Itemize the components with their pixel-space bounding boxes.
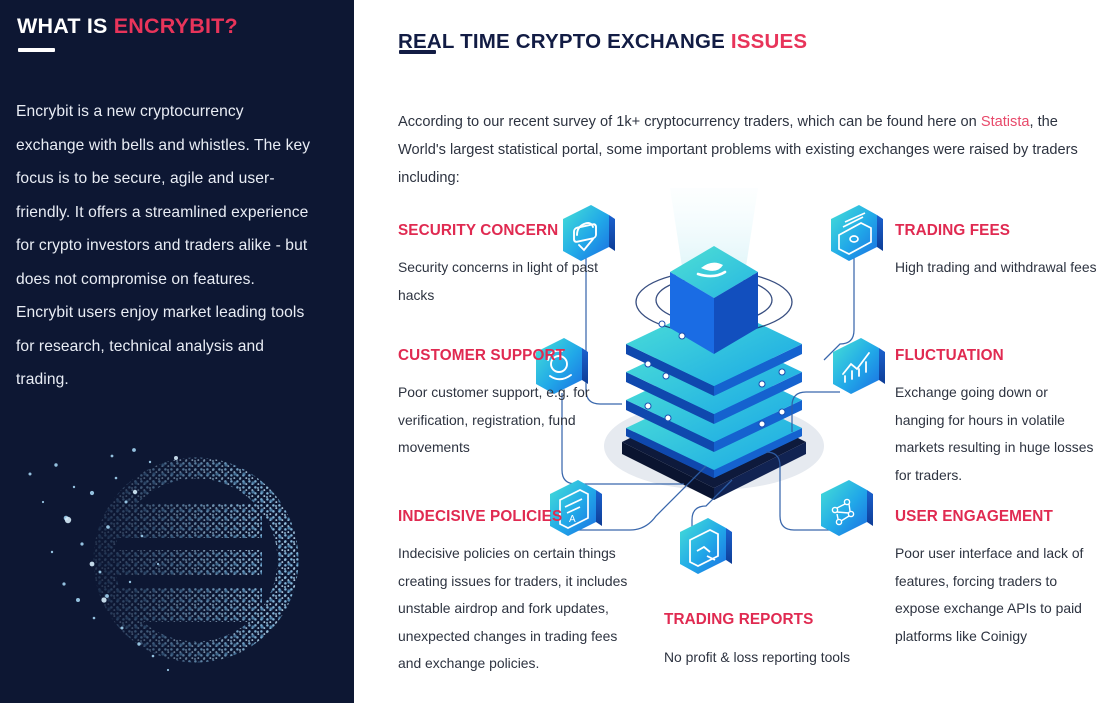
- feature-customer-support: CUSTOMER SUPPORT Poor customer support, …: [398, 347, 603, 462]
- sidebar-heading-plain: WHAT IS: [17, 14, 114, 38]
- feature-title-fluctuation: FLUCTUATION: [895, 347, 1095, 365]
- feature-body-policies: Indecisive policies on certain things cr…: [398, 540, 638, 678]
- feature-body-support: Poor customer support, e.g. for verifica…: [398, 379, 603, 462]
- page-title: REAL TIME CRYPTO EXCHANGE ISSUES: [398, 30, 807, 54]
- server-stack: [626, 302, 802, 478]
- feature-body-engagement: Poor user interface and lack of features…: [895, 540, 1095, 650]
- sidebar-heading-accent: ENCRYBIT?: [114, 14, 238, 38]
- network-nodes-icon: [821, 480, 873, 536]
- feature-title-reports: TRADING REPORTS: [664, 611, 924, 629]
- sidebar-panel: WHAT IS ENCRYBIT? Encrybit is a new cryp…: [0, 0, 354, 703]
- sidebar-heading-underline: [18, 48, 55, 52]
- statista-link[interactable]: Statista: [981, 114, 1030, 130]
- sidebar-heading: WHAT IS ENCRYBIT?: [17, 14, 238, 39]
- orbit-rings: [636, 271, 792, 333]
- page-title-accent: ISSUES: [731, 30, 807, 53]
- feature-title-fees: TRADING FEES: [895, 222, 1105, 240]
- encrybit-cube-logo: [670, 246, 758, 354]
- feature-trading-reports: TRADING REPORTS No profit & loss reporti…: [664, 611, 924, 672]
- feature-title-policies: INDECISIVE POLICIES: [398, 508, 638, 526]
- feature-trading-fees: TRADING FEES High trading and withdrawal…: [895, 222, 1105, 282]
- banknote-icon: [831, 205, 883, 261]
- sidebar-body-text: Encrybit is a new cryptocurrency exchang…: [16, 95, 316, 397]
- feature-body-reports: No profit & loss reporting tools: [664, 644, 924, 672]
- page-title-underline: [399, 50, 436, 54]
- feature-security-concern: SECURITY CONCERN Security concerns in li…: [398, 222, 603, 309]
- feature-title-engagement: USER ENGAGEMENT: [895, 508, 1095, 526]
- feature-indecisive-policies: INDECISIVE POLICIES Indecisive policies …: [398, 508, 638, 678]
- feature-fluctuation: FLUCTUATION Exchange going down or hangi…: [895, 347, 1095, 489]
- infographic-page: WHAT IS ENCRYBIT? Encrybit is a new cryp…: [0, 0, 1105, 703]
- encrybit-particle-logo: [8, 432, 348, 694]
- intro-paragraph: According to our recent survey of 1k+ cr…: [398, 108, 1078, 192]
- base-platform: [604, 396, 824, 500]
- light-beam: [670, 188, 758, 306]
- main-panel: REAL TIME CRYPTO EXCHANGE ISSUES Accordi…: [354, 0, 1105, 703]
- report-screen-icon: [680, 518, 732, 574]
- feature-body-fees: High trading and withdrawal fees: [895, 254, 1105, 282]
- feature-user-engagement: USER ENGAGEMENT Poor user interface and …: [895, 508, 1095, 650]
- chart-volatility-icon: [833, 338, 885, 394]
- intro-text-1: According to our recent survey of 1k+ cr…: [398, 114, 981, 130]
- page-title-plain: REAL TIME CRYPTO EXCHANGE: [398, 30, 731, 53]
- feature-title-security: SECURITY CONCERN: [398, 222, 603, 240]
- feature-body-fluctuation: Exchange going down or hanging for hours…: [895, 379, 1095, 489]
- feature-body-security: Security concerns in light of past hacks: [398, 254, 603, 309]
- feature-title-support: CUSTOMER SUPPORT: [398, 347, 603, 365]
